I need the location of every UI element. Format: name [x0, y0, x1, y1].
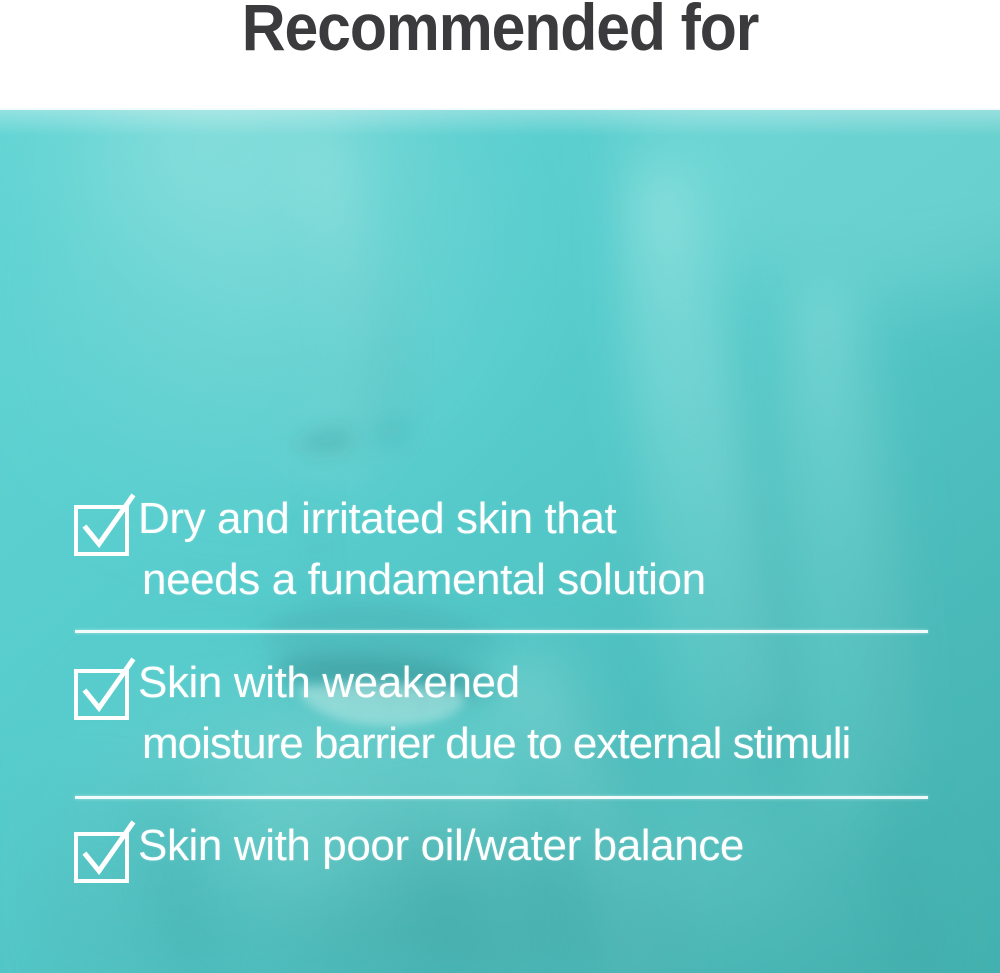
list-item: Dry and irritated skin that needs a fund… — [70, 488, 970, 610]
checkbox-checked-glyph — [70, 823, 132, 881]
hero-section: Dry and irritated skin that needs a fund… — [0, 110, 1000, 973]
checkbox-checked-glyph — [70, 496, 132, 554]
checkbox-checked-glyph — [70, 660, 132, 718]
list-item: Skin with poor oil/water balance — [70, 815, 970, 881]
checklist-text: Skin with poor oil/water balance — [132, 815, 970, 876]
page-title: Recommended for — [40, 0, 960, 66]
checklist-row: Skin with poor oil/water balance — [70, 815, 970, 881]
checklist-line: Dry and irritated skin that — [138, 488, 970, 549]
checkbox-checked-icon — [70, 823, 132, 881]
checklist-line: Skin with poor oil/water balance — [138, 815, 970, 876]
checklist-row: Skin with weakened moisture barrier due … — [70, 652, 970, 774]
checklist-line: needs a fundamental solution — [142, 549, 970, 610]
list-item: Skin with weakened moisture barrier due … — [70, 652, 970, 774]
list-divider — [75, 796, 928, 799]
header-band: Recommended for — [0, 0, 1000, 110]
checklist-text: Dry and irritated skin that needs a fund… — [132, 488, 970, 610]
recommended-checklist: Dry and irritated skin that needs a fund… — [0, 110, 1000, 973]
checkbox-checked-icon — [70, 496, 132, 554]
list-divider — [75, 630, 928, 633]
checklist-text: Skin with weakened moisture barrier due … — [132, 652, 970, 774]
checklist-row: Dry and irritated skin that needs a fund… — [70, 488, 970, 610]
checklist-line: Skin with weakened — [138, 652, 970, 713]
checklist-line: moisture barrier due to external stimuli — [142, 713, 970, 774]
product-detail-panel: Recommended for — [0, 0, 1000, 973]
checkbox-checked-icon — [70, 660, 132, 718]
